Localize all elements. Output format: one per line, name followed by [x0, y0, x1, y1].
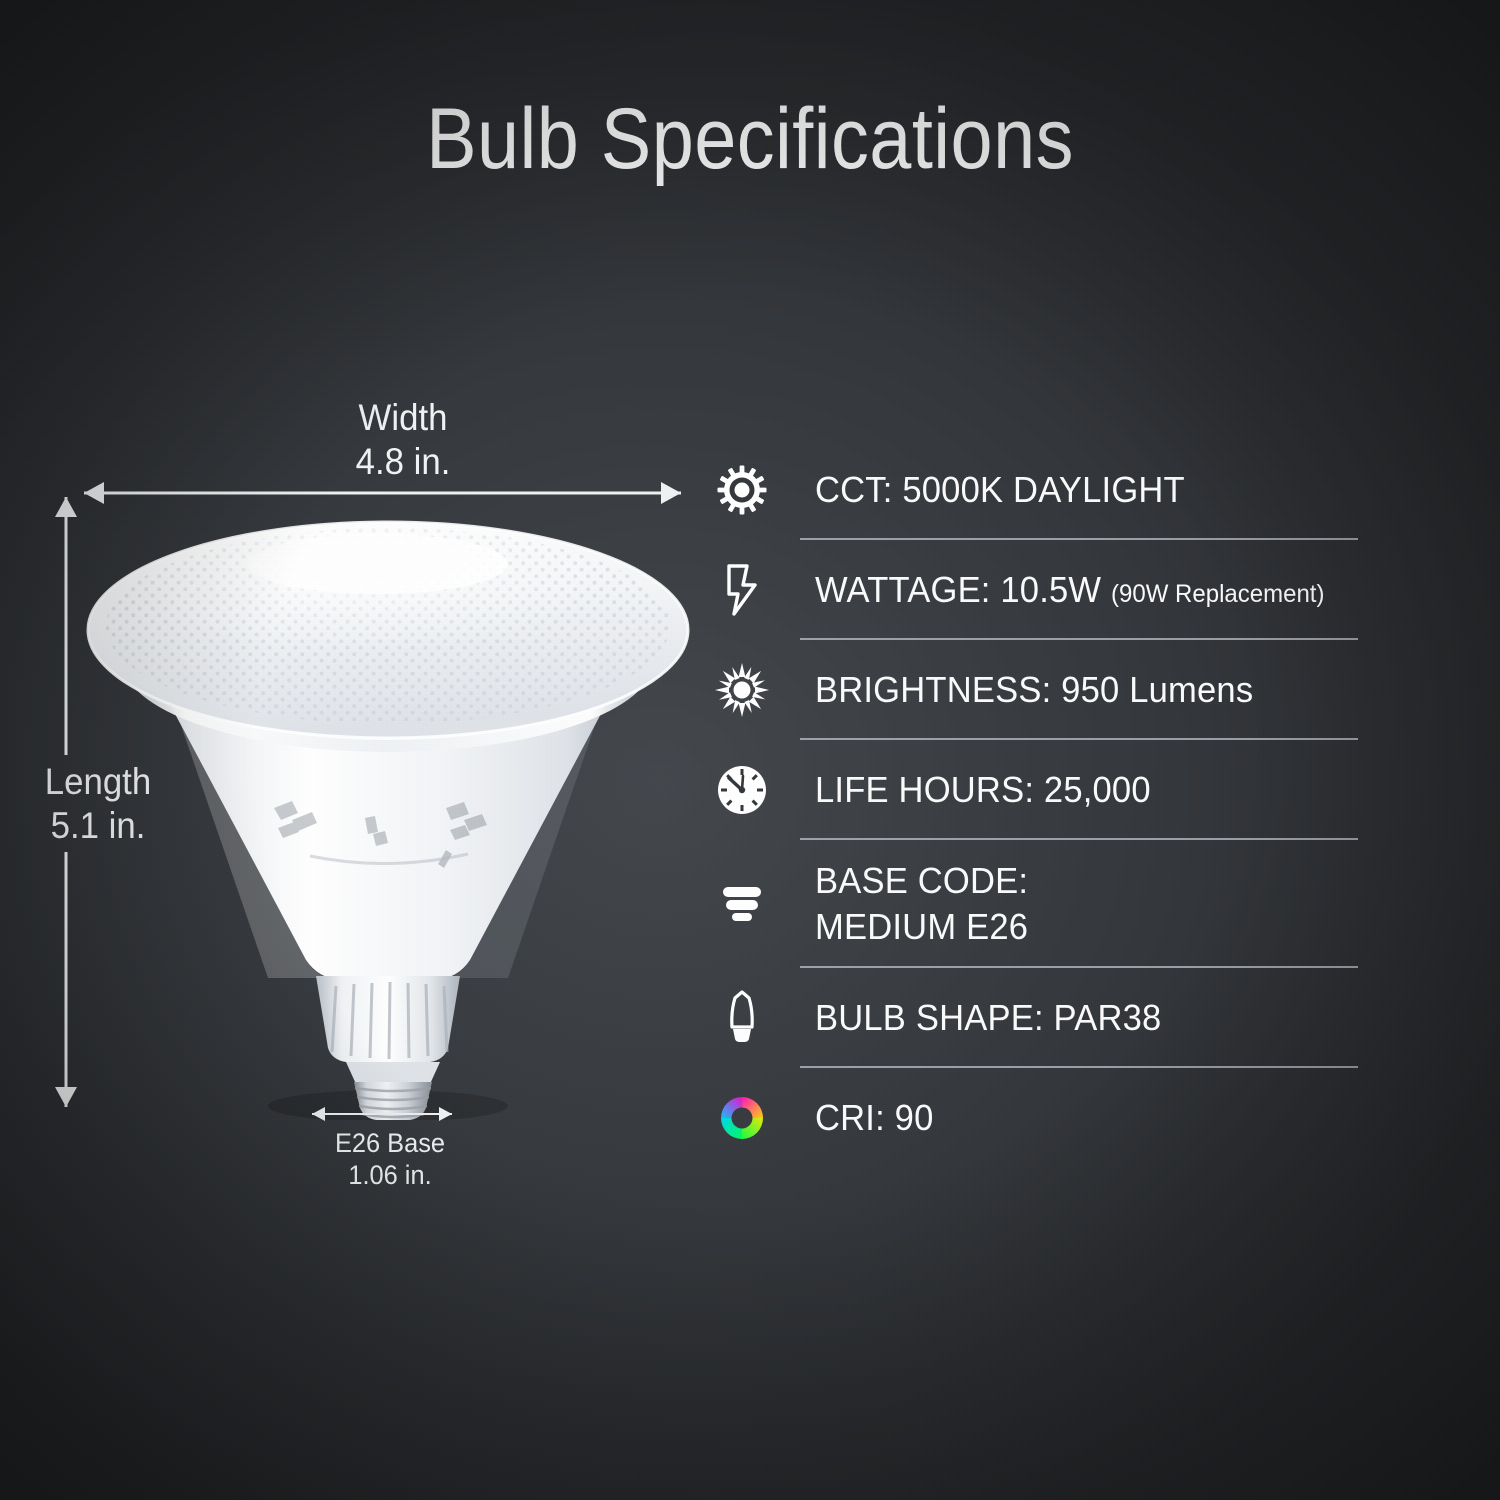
- width-dimension-label: Width 4.8 in.: [276, 396, 530, 483]
- bulb-specifications-page: Bulb Specifications: [0, 0, 1500, 1500]
- clock-icon: [714, 762, 770, 818]
- spec-row-cct: CCT: 5000K DAYLIGHT: [700, 440, 1380, 540]
- spec-row-cri: CRI: 90: [700, 1068, 1380, 1168]
- spec-value-life-hours: LIFE HOURS: 25,000: [815, 767, 1151, 813]
- spec-value-cri: CRI: 90: [815, 1095, 934, 1141]
- length-dimension-arrow-upper: [54, 497, 78, 755]
- width-dimension-arrow: [84, 481, 681, 505]
- color-wheel-icon: [714, 1090, 770, 1146]
- starburst-sun-icon: [714, 662, 770, 718]
- spec-value-wattage: WATTAGE: 10.5W (90W Replacement): [815, 567, 1324, 613]
- spec-row-brightness: BRIGHTNESS: 950 Lumens: [700, 640, 1380, 740]
- sun-gear-icon: [714, 462, 770, 518]
- spec-value-cct: CCT: 5000K DAYLIGHT: [815, 467, 1185, 513]
- spec-row-bulb-shape: BULB SHAPE: PAR38: [700, 968, 1380, 1068]
- spec-row-wattage: WATTAGE: 10.5W (90W Replacement): [700, 540, 1380, 640]
- base-dimension-label: E26 Base 1.06 in.: [296, 1127, 484, 1192]
- lightning-bolt-icon: [714, 562, 770, 618]
- spec-value-bulb-shape: BULB SHAPE: PAR38: [815, 995, 1161, 1041]
- specifications-list: CCT: 5000K DAYLIGHT WATTAGE: 10.5W (90W …: [700, 440, 1380, 1168]
- spec-row-life-hours: LIFE HOURS: 25,000: [700, 740, 1380, 840]
- base-dimension-arrow: [312, 1106, 452, 1122]
- spec-row-base-code: BASE CODE: MEDIUM E26: [700, 840, 1380, 968]
- length-dimension-label: Length 5.1 in.: [4, 760, 192, 847]
- spec-value-brightness: BRIGHTNESS: 950 Lumens: [815, 667, 1253, 713]
- page-title: Bulb Specifications: [90, 96, 1410, 182]
- bulb-outline-icon: [714, 990, 770, 1046]
- length-dimension-arrow-lower: [54, 852, 78, 1107]
- screw-base-icon: [714, 876, 770, 932]
- spec-note-wattage: (90W Replacement): [1111, 580, 1324, 608]
- spec-value-base-code: BASE CODE: MEDIUM E26: [815, 858, 1028, 950]
